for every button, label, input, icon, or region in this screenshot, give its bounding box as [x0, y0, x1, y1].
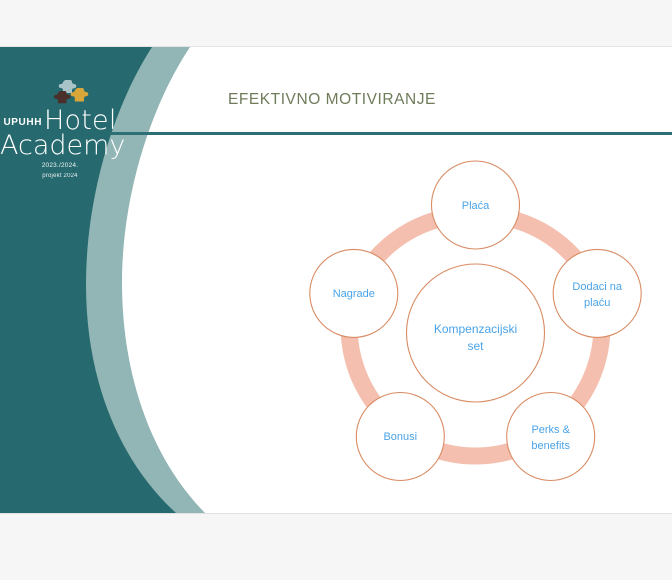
- node-perks-label-line2: benefits: [531, 440, 570, 452]
- title-underline-rule: [110, 132, 672, 135]
- logo-org: UPUHH: [3, 117, 42, 128]
- node-dodaci[interactable]: Dodaci na plaću: [553, 249, 641, 337]
- center-node: Kompenzacijski set: [407, 264, 545, 402]
- center-node-label-line1: Kompenzacijski: [434, 322, 517, 336]
- slide-title: EFEKTIVNO MOTIVIRANJE: [228, 91, 436, 109]
- node-perks-circle[interactable]: [507, 393, 595, 481]
- center-node-label-line2: set: [467, 339, 484, 353]
- node-bonusi-label: Bonusi: [383, 431, 417, 443]
- node-bonusi[interactable]: Bonusi: [356, 393, 444, 481]
- screenshot-root: UPUHHHotel Academy 2023./2024. projekt 2…: [0, 0, 672, 580]
- node-dodaci-circle[interactable]: [553, 249, 641, 337]
- node-perks-label-line1: Perks &: [531, 424, 570, 436]
- node-perks[interactable]: Perks & benefits: [507, 393, 595, 481]
- node-placa-label: Plaća: [462, 200, 490, 212]
- cycle-diagram-svg: Kompenzacijski set Plaća Dodaci na plaću: [270, 142, 672, 513]
- compensation-cycle-diagram: Kompenzacijski set Plaća Dodaci na plaću: [270, 142, 672, 513]
- node-dodaci-label-line1: Dodaci na: [572, 281, 622, 293]
- slide-bottom-edge: [0, 513, 672, 514]
- logo-year: 2023./2024.: [0, 162, 120, 169]
- node-dodaci-label-line2: plaću: [584, 297, 610, 309]
- node-placa[interactable]: Plaća: [432, 161, 520, 249]
- logo-project: projekt 2024: [0, 173, 120, 179]
- node-nagrade-label: Nagrade: [333, 288, 375, 300]
- node-nagrade[interactable]: Nagrade: [310, 249, 398, 337]
- puzzle-pieces-icon: [52, 78, 94, 106]
- logo-academy: Academy: [0, 132, 120, 159]
- presentation-slide: UPUHHHotel Academy 2023./2024. projekt 2…: [0, 47, 672, 513]
